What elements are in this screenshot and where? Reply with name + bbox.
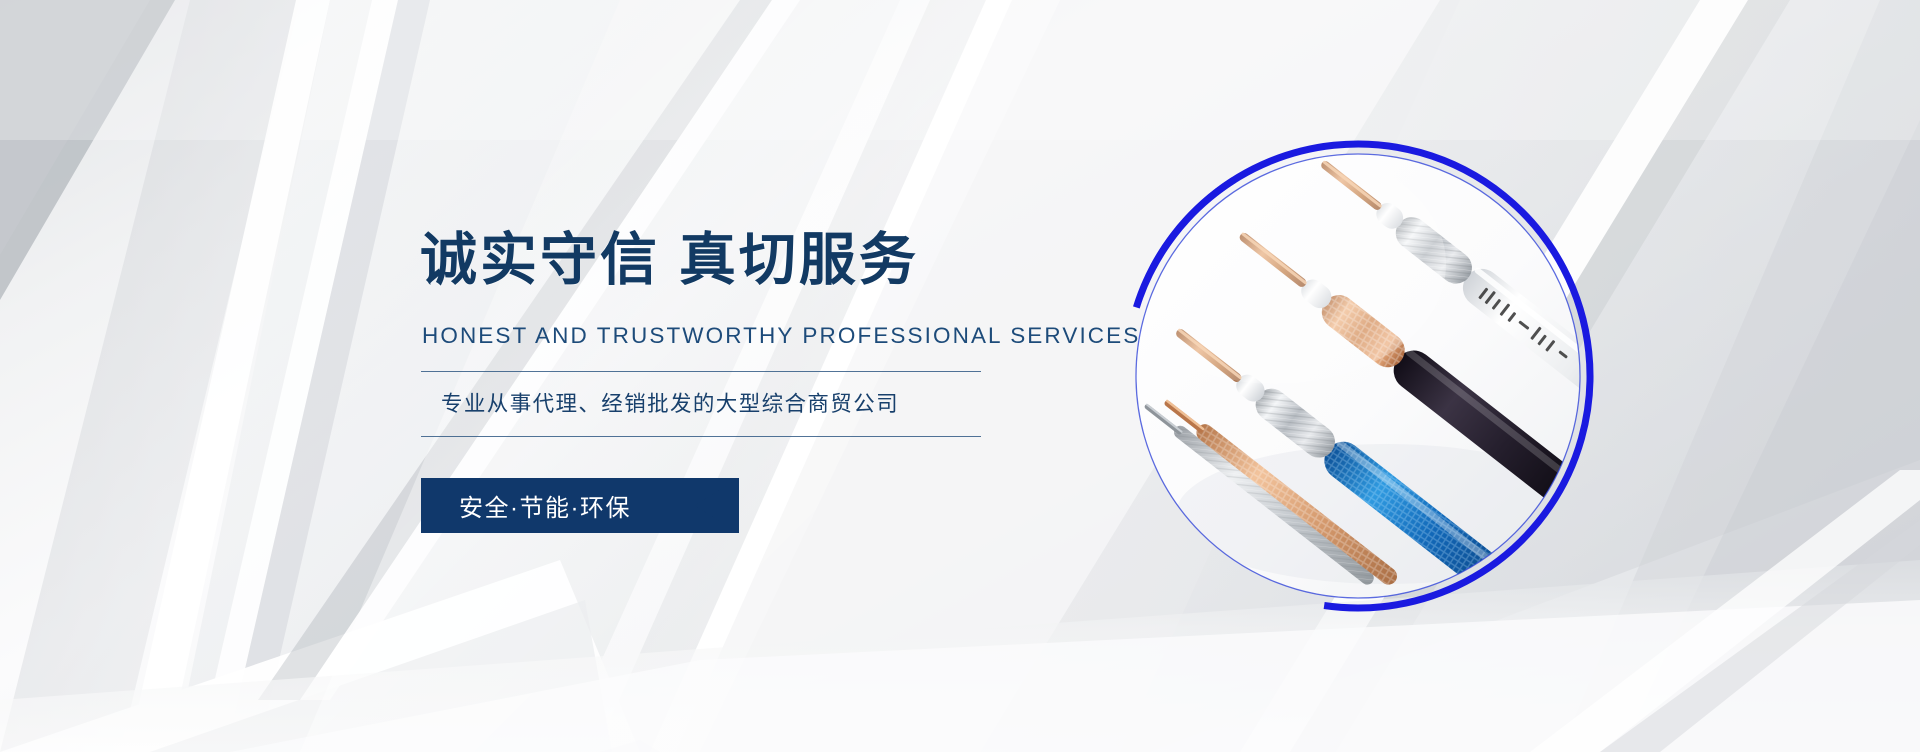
tagline-chinese: 专业从事代理、经销批发的大型综合商贸公司	[421, 372, 981, 436]
feature-ribbon: 安全·节能·环保	[421, 478, 739, 533]
ring-overlay-svg	[1118, 138, 1598, 618]
ring-arc-accent	[1118, 138, 1598, 618]
subtitle-english: HONEST AND TRUSTWORTHY PROFESSIONAL SERV…	[422, 323, 1140, 349]
divider-top	[421, 371, 981, 372]
page-title: 诚实守信 真切服务	[420, 232, 919, 289]
status-badge: 安全·节能·环保	[459, 478, 631, 533]
product-circle-module	[1118, 138, 1598, 618]
hero-text-block: 诚实守信 真切服务 HONEST AND TRUSTWORTHY PROFESS…	[418, 0, 1118, 752]
tagline-group: 专业从事代理、经销批发的大型综合商贸公司	[421, 371, 981, 437]
ring-arc-main	[1118, 138, 1598, 618]
divider-bottom	[421, 436, 981, 437]
thin-circle-outline	[1136, 154, 1580, 598]
hero-banner: 诚实守信 真切服务 HONEST AND TRUSTWORTHY PROFESS…	[0, 0, 1920, 752]
